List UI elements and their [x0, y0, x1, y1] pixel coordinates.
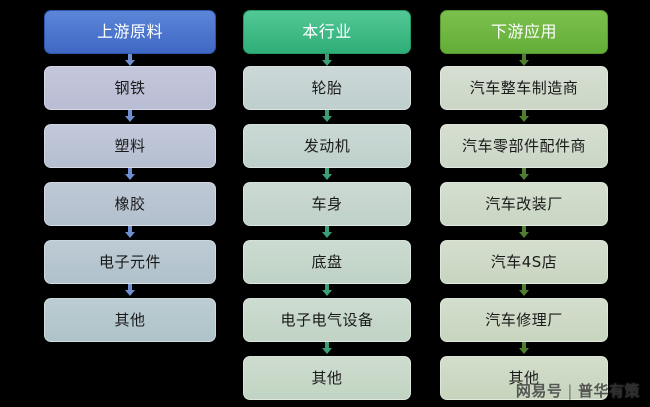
arrow-down-icon: [322, 284, 332, 296]
watermark-brand: 普华有策: [578, 380, 640, 401]
arrow-head: [519, 232, 529, 238]
node-upstream-5[interactable]: 其他: [44, 298, 216, 342]
watermark: 网易号 | 普华有策: [516, 380, 640, 401]
node-upstream-3[interactable]: 橡胶: [44, 182, 216, 226]
node-downstream-4[interactable]: 汽车4S店: [440, 240, 608, 284]
arrow-down-icon: [125, 284, 135, 296]
node-downstream-1[interactable]: 汽车整车制造商: [440, 66, 608, 110]
node-industry-6[interactable]: 其他: [243, 356, 411, 400]
arrow-head: [125, 116, 135, 122]
arrow-head: [519, 116, 529, 122]
arrow-down-icon: [519, 168, 529, 180]
node-downstream-2[interactable]: 汽车零部件配件商: [440, 124, 608, 168]
arrow-down-icon: [125, 110, 135, 122]
node-industry-5[interactable]: 电子电气设备: [243, 298, 411, 342]
node-industry-3[interactable]: 车身: [243, 182, 411, 226]
column-upstream: 上游原料 钢铁 塑料 橡胶 电子元件 其他: [44, 0, 216, 407]
arrow-down-icon: [322, 168, 332, 180]
arrow-head: [125, 290, 135, 296]
arrow-down-icon: [322, 342, 332, 354]
column-header-downstream[interactable]: 下游应用: [440, 10, 608, 54]
arrow-down-icon: [519, 110, 529, 122]
industry-chain-diagram: 上游原料 钢铁 塑料 橡胶 电子元件 其他 本行业: [0, 0, 650, 407]
node-industry-4[interactable]: 底盘: [243, 240, 411, 284]
node-downstream-5[interactable]: 汽车修理厂: [440, 298, 608, 342]
node-industry-2[interactable]: 发动机: [243, 124, 411, 168]
node-upstream-1[interactable]: 钢铁: [44, 66, 216, 110]
watermark-separator: |: [567, 382, 573, 400]
arrow-head: [322, 290, 332, 296]
arrow-down-icon: [519, 342, 529, 354]
arrow-head: [322, 232, 332, 238]
arrow-head: [322, 348, 332, 354]
arrow-head: [125, 174, 135, 180]
node-downstream-3[interactable]: 汽车改装厂: [440, 182, 608, 226]
arrow-down-icon: [519, 284, 529, 296]
arrow-down-icon: [125, 54, 135, 66]
node-industry-1[interactable]: 轮胎: [243, 66, 411, 110]
column-industry: 本行业 轮胎 发动机 车身 底盘 电子电气设备 其他: [243, 0, 411, 407]
arrow-head: [519, 348, 529, 354]
arrow-down-icon: [322, 110, 332, 122]
arrow-down-icon: [519, 226, 529, 238]
arrow-head: [519, 174, 529, 180]
column-header-upstream[interactable]: 上游原料: [44, 10, 216, 54]
arrow-down-icon: [322, 54, 332, 66]
arrow-head: [322, 174, 332, 180]
column-header-industry[interactable]: 本行业: [243, 10, 411, 54]
arrow-down-icon: [322, 226, 332, 238]
arrow-head: [125, 232, 135, 238]
node-upstream-4[interactable]: 电子元件: [44, 240, 216, 284]
watermark-source: 网易号: [516, 380, 563, 401]
arrow-down-icon: [519, 54, 529, 66]
arrow-head: [322, 116, 332, 122]
column-downstream: 下游应用 汽车整车制造商 汽车零部件配件商 汽车改装厂 汽车4S店 汽车修理厂: [440, 0, 608, 407]
arrow-down-icon: [125, 226, 135, 238]
arrow-down-icon: [125, 168, 135, 180]
arrow-head: [519, 290, 529, 296]
node-upstream-2[interactable]: 塑料: [44, 124, 216, 168]
